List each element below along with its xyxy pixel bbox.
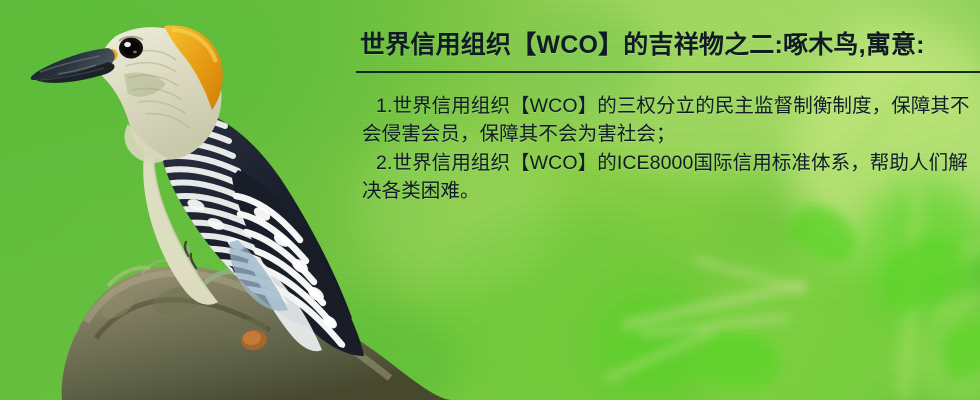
page-title: 世界信用组织【WCO】的吉祥物之二:啄木鸟,寓意: xyxy=(360,29,980,61)
list-item: 1.世界信用组织【WCO】的三权分立的民主监督制衡制度，保障其不会侵害会员，保障… xyxy=(362,92,980,148)
list-item: 2.世界信用组织【WCO】的ICE8000国际信用标准体系，帮助人们解决各类困难… xyxy=(362,149,980,205)
wco-mascot-banner: 世界信用组织【WCO】的吉祥物之二:啄木鸟,寓意: 1.世界信用组织【WCO】的… xyxy=(0,0,980,400)
bird-beak xyxy=(31,48,115,83)
mascot-meaning-list: 1.世界信用组织【WCO】的三权分立的民主监督制衡制度，保障其不会侵害会员，保障… xyxy=(362,92,980,205)
banner-text-panel: 世界信用组织【WCO】的吉祥物之二:啄木鸟,寓意: 1.世界信用组织【WCO】的… xyxy=(356,24,980,214)
bird-head xyxy=(96,25,222,159)
title-divider xyxy=(356,71,980,73)
